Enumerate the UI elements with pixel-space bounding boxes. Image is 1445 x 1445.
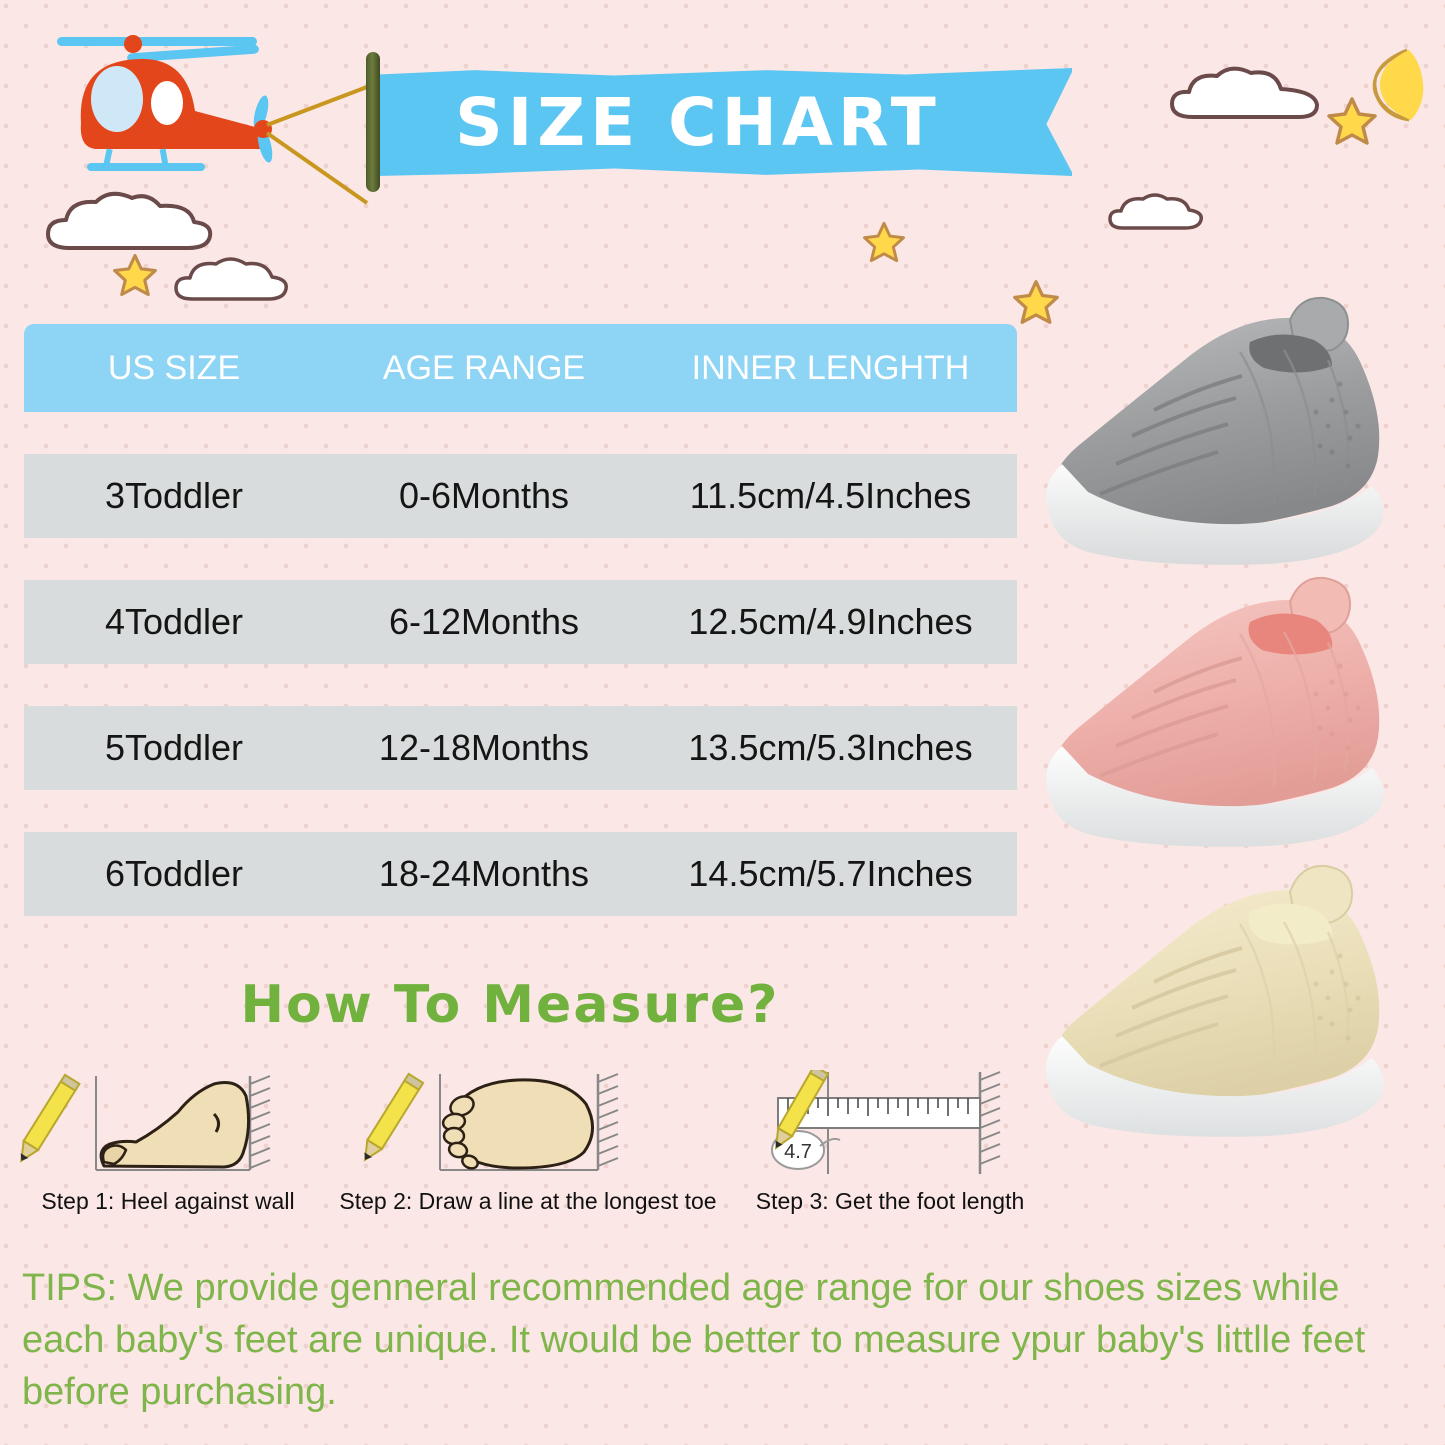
cell-us-size: 3Toddler: [24, 475, 324, 517]
foot-top-view-icon: [328, 1070, 728, 1180]
cloud-icon: [170, 255, 300, 307]
column-header-age-range: AGE RANGE: [324, 349, 644, 388]
how-to-measure-title: How To Measure?: [0, 975, 1020, 1035]
helicopter-icon: [55, 25, 375, 205]
cell-age-range: 0-6Months: [324, 475, 644, 517]
cell-us-size: 4Toddler: [24, 601, 324, 643]
cell-inner-length: 14.5cm/5.7Inches: [644, 853, 1017, 895]
measure-step-3: 4.7 Step 3: Get the foot length: [740, 1070, 1040, 1185]
cell-inner-length: 11.5cm/4.5Inches: [644, 475, 1017, 517]
measure-step-2-caption: Step 2: Draw a line at the longest toe: [328, 1188, 728, 1215]
column-header-inner-length: INNER LENGHTH: [644, 349, 1017, 388]
measure-step-3-caption: Step 3: Get the foot length: [740, 1188, 1040, 1215]
table-row: 5Toddler 12-18Months 13.5cm/5.3Inches: [24, 706, 1017, 790]
cell-age-range: 18-24Months: [324, 853, 644, 895]
ruler-callout-value: 4.7: [784, 1141, 812, 1163]
table-row: 4Toddler 6-12Months 12.5cm/4.9Inches: [24, 580, 1017, 664]
table-row: 6Toddler 18-24Months 14.5cm/5.7Inches: [24, 832, 1017, 916]
measure-step-1: Step 1: Heel against wall: [18, 1070, 318, 1185]
star-icon: [1326, 95, 1378, 147]
star-icon: [112, 252, 158, 298]
measure-step-2: Step 2: Draw a line at the longest toe: [328, 1070, 728, 1185]
beige-knit-baby-sneaker: [1032, 852, 1432, 1142]
table-row: 3Toddler 0-6Months 11.5cm/4.5Inches: [24, 454, 1017, 538]
foot-side-view-icon: [18, 1070, 318, 1180]
ruler-measure-icon: 4.7: [740, 1070, 1040, 1180]
cloud-icon: [1105, 192, 1215, 234]
cell-age-range: 12-18Months: [324, 727, 644, 769]
cell-age-range: 6-12Months: [324, 601, 644, 643]
star-icon: [862, 220, 906, 264]
tips-text: TIPS: We provide genneral recommended ag…: [22, 1262, 1422, 1418]
cell-inner-length: 13.5cm/5.3Inches: [644, 727, 1017, 769]
how-to-measure-steps: Step 1: Heel against wall: [18, 1070, 1043, 1225]
cloud-icon: [1165, 65, 1330, 127]
page-title: SIZE CHART: [378, 68, 1018, 176]
measure-step-1-caption: Step 1: Heel against wall: [18, 1188, 318, 1215]
gray-knit-baby-sneaker: [1032, 280, 1432, 570]
size-chart-banner: SIZE CHART: [366, 52, 1072, 192]
column-header-us-size: US SIZE: [24, 349, 324, 388]
size-chart-table: US SIZE AGE RANGE INNER LENGHTH 3Toddler…: [24, 324, 1017, 916]
cell-inner-length: 12.5cm/4.9Inches: [644, 601, 1017, 643]
pink-knit-baby-sneaker: [1032, 562, 1432, 852]
cell-us-size: 5Toddler: [24, 727, 324, 769]
table-header-row: US SIZE AGE RANGE INNER LENGHTH: [24, 324, 1017, 412]
cell-us-size: 6Toddler: [24, 853, 324, 895]
